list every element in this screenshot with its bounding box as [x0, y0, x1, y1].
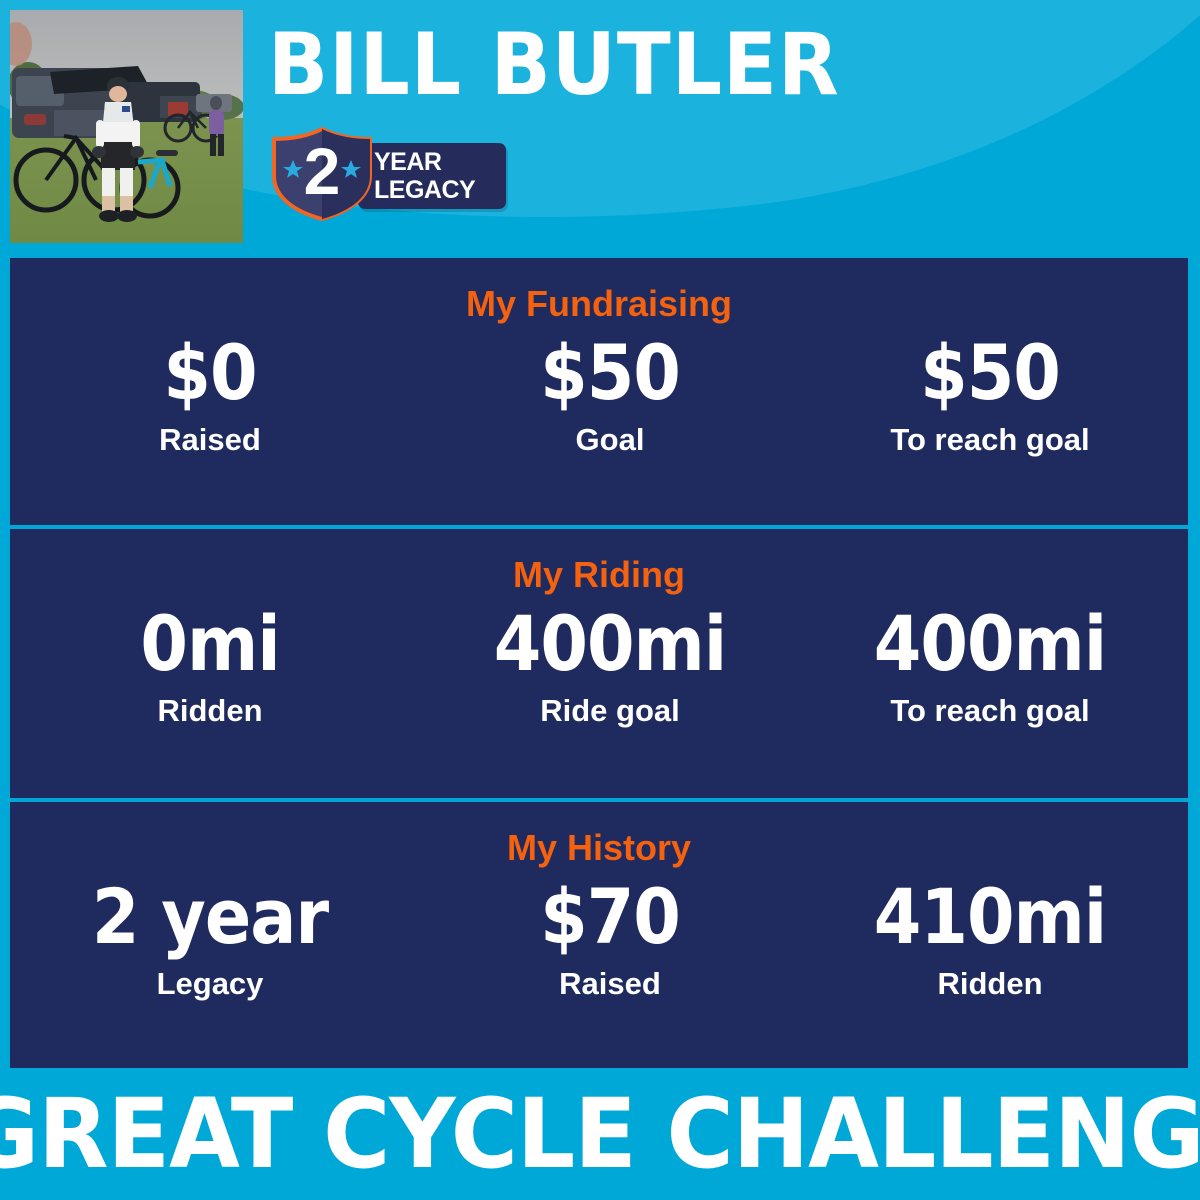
stat-value: 0mi: [60, 601, 360, 687]
stat-ride-goal: 400mi Ride goal: [450, 601, 770, 729]
stats-panel: My Fundraising $0 Raised $50 Goal $50 To…: [10, 258, 1188, 1068]
section-title-fundraising: My Fundraising: [10, 284, 1188, 324]
stat-history-raised: $70 Raised: [450, 874, 770, 1002]
section-fundraising: My Fundraising $0 Raised $50 Goal $50 To…: [10, 258, 1188, 525]
fundraiser-poster: BILL BUTLER 2 YEAR LEGACY My Fundraising…: [0, 0, 1200, 1200]
brand-wordmark: GREAT CYCLE CHALLENGE: [0, 1082, 1200, 1186]
stat-label: Raised: [60, 422, 360, 458]
stat-label: Legacy: [60, 966, 360, 1002]
legacy-plate-label: YEAR LEGACY: [374, 148, 504, 204]
section-riding: My Riding 0mi Ridden 400mi Ride goal 400…: [10, 529, 1188, 798]
stat-to-reach-goal: $50 To reach goal: [830, 330, 1150, 458]
stat-value: $50: [450, 330, 770, 416]
stat-label: Ride goal: [450, 693, 770, 729]
section-title-riding: My Riding: [10, 555, 1188, 595]
stat-label: To reach goal: [830, 693, 1150, 729]
stat-value: $70: [450, 874, 770, 960]
stat-ridden: 0mi Ridden: [60, 601, 360, 729]
riding-stat-columns: 0mi Ridden 400mi Ride goal 400mi To reac…: [10, 601, 1188, 781]
stat-value: $0: [60, 330, 360, 416]
poster-header: BILL BUTLER 2 YEAR LEGACY: [0, 0, 1200, 258]
stat-raised: $0 Raised: [60, 330, 360, 458]
stat-label: Goal: [450, 422, 770, 458]
page-title: BILL BUTLER: [268, 17, 1186, 113]
stat-value: 400mi: [450, 601, 770, 687]
stat-legacy: 2 year Legacy: [60, 874, 360, 1002]
legacy-badge: 2 YEAR LEGACY: [262, 126, 507, 222]
fundraising-stat-columns: $0 Raised $50 Goal $50 To reach goal: [10, 330, 1188, 510]
rider-photo-image: [10, 10, 243, 243]
stat-goal: $50 Goal: [450, 330, 770, 458]
poster-footer: GREAT CYCLE CHALLENGE: [0, 1068, 1200, 1200]
stat-value: 410mi: [830, 874, 1150, 960]
section-history: My History 2 year Legacy $70 Raised 410m…: [10, 802, 1188, 1068]
stat-label: To reach goal: [830, 422, 1150, 458]
stat-value: 400mi: [830, 601, 1150, 687]
legacy-year-number: 2: [262, 135, 382, 207]
stat-label: Ridden: [60, 693, 360, 729]
rider-photo: [10, 10, 243, 243]
stat-label: Ridden: [830, 966, 1150, 1002]
stat-ride-to-reach-goal: 400mi To reach goal: [830, 601, 1150, 729]
stat-value: $50: [830, 330, 1150, 416]
section-title-history: My History: [10, 828, 1188, 868]
stat-history-ridden: 410mi Ridden: [830, 874, 1150, 1002]
legacy-line-2: LEGACY: [374, 176, 504, 204]
history-stat-columns: 2 year Legacy $70 Raised 410mi Ridden: [10, 874, 1188, 1054]
stat-label: Raised: [450, 966, 770, 1002]
stat-value: 2 year: [60, 874, 360, 960]
legacy-line-1: YEAR: [374, 148, 504, 176]
